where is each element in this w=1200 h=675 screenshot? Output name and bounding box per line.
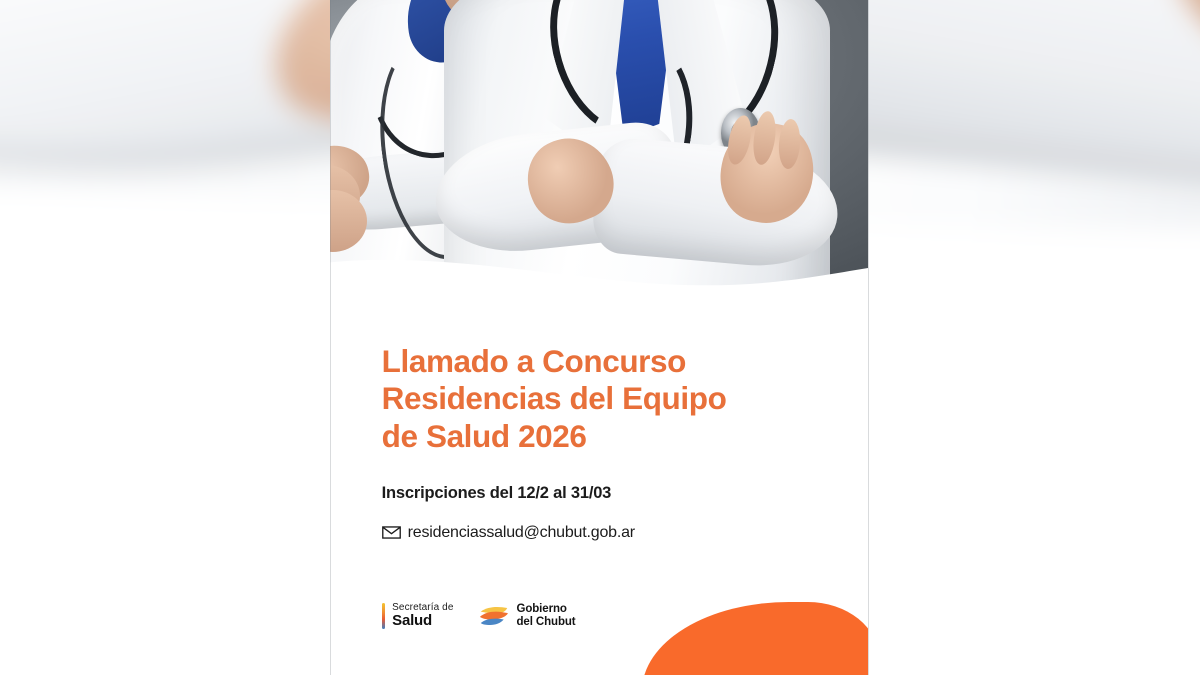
- email-row[interactable]: residenciassalud@chubut.gob.ar: [382, 524, 635, 542]
- screenshot-canvas: Llamado a Concurso Residencias del Equip…: [0, 0, 1200, 675]
- salud-logo-line-2: Salud: [392, 613, 453, 630]
- wave-divider: [330, 243, 868, 310]
- hero-photo: [330, 0, 868, 311]
- headline-line-1: Llamado a Concurso: [382, 343, 839, 380]
- poster: Llamado a Concurso Residencias del Equip…: [330, 0, 868, 675]
- orange-corner-blob: [642, 602, 868, 675]
- email-address[interactable]: residenciassalud@chubut.gob.ar: [408, 524, 635, 542]
- registration-period-text: Inscripciones del 12/2 al 31/03: [382, 484, 612, 503]
- panel-seam-right: [868, 0, 869, 675]
- logos-row: Secretaría de Salud Gobierno del Chubut: [382, 602, 576, 630]
- envelope-icon: [382, 526, 401, 539]
- poster-text-block: Llamado a Concurso Residencias del Equip…: [330, 311, 868, 675]
- gobierno-del-chubut-logo: Gobierno del Chubut: [479, 603, 575, 629]
- panel-seam-left: [330, 0, 331, 675]
- page-title: Llamado a Concurso Residencias del Equip…: [382, 343, 839, 454]
- chubut-logo-line-1: Gobierno: [516, 603, 575, 616]
- secretaria-de-salud-logo: Secretaría de Salud: [382, 602, 454, 630]
- vertical-gradient-bar-icon: [382, 603, 386, 629]
- chubut-logo-line-2: del Chubut: [516, 616, 575, 629]
- headline-line-2: Residencias del Equipo: [382, 380, 839, 417]
- chubut-wave-icon: [479, 605, 509, 627]
- headline-line-3: de Salud 2026: [382, 418, 839, 455]
